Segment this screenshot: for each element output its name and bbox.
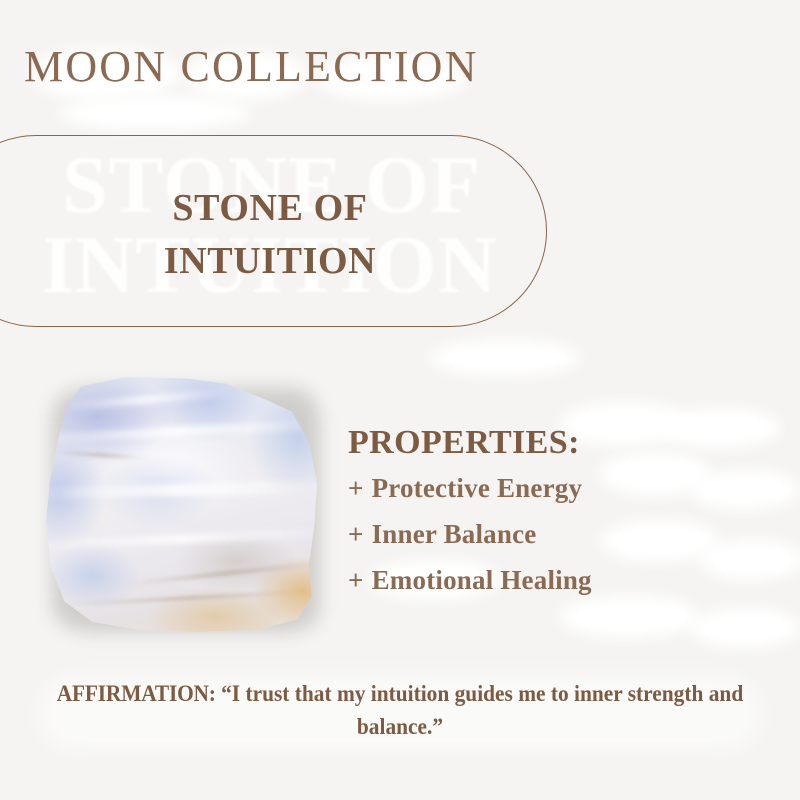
affirmation-text: AFFIRMATION: “I trust that my intuition … xyxy=(56,678,744,743)
headline: STONE OF INTUITION xyxy=(30,182,510,288)
stone-streak xyxy=(42,419,320,444)
stone-streak xyxy=(42,528,320,550)
decor-blob xyxy=(690,608,800,648)
property-label: Inner Balance xyxy=(372,519,537,549)
decor-blob xyxy=(60,96,250,130)
stone-streak xyxy=(64,389,231,411)
decor-blob xyxy=(430,340,580,376)
property-label: Emotional Healing xyxy=(372,565,592,595)
stone-streak xyxy=(42,479,320,499)
properties-heading: PROPERTIES: xyxy=(348,424,768,461)
plus-icon: + xyxy=(348,473,364,503)
plus-icon: + xyxy=(348,565,364,595)
property-item: +Emotional Healing xyxy=(348,567,768,594)
affirmation-label: AFFIRMATION: xyxy=(57,681,216,706)
property-item: +Inner Balance xyxy=(348,521,768,548)
property-item: +Protective Energy xyxy=(348,475,768,502)
crystal-info-card: MOON COLLECTION STONE OF INTUITION STONE… xyxy=(0,0,800,800)
stone-vein xyxy=(70,590,309,607)
affirmation-quote-line-1: “I trust that my intuition guides me to … xyxy=(221,681,622,706)
moonstone-image xyxy=(38,372,326,638)
stone-vein xyxy=(53,450,148,461)
properties-section: PROPERTIES: +Protective Energy +Inner Ba… xyxy=(348,424,768,613)
headline-line-2: INTUITION xyxy=(30,235,510,288)
moonstone-body xyxy=(42,376,320,632)
property-label: Protective Energy xyxy=(372,473,583,503)
headline-line-1: STONE OF xyxy=(30,182,510,235)
page-title: MOON COLLECTION xyxy=(24,45,479,89)
stone-vein xyxy=(126,560,320,586)
plus-icon: + xyxy=(348,519,364,549)
